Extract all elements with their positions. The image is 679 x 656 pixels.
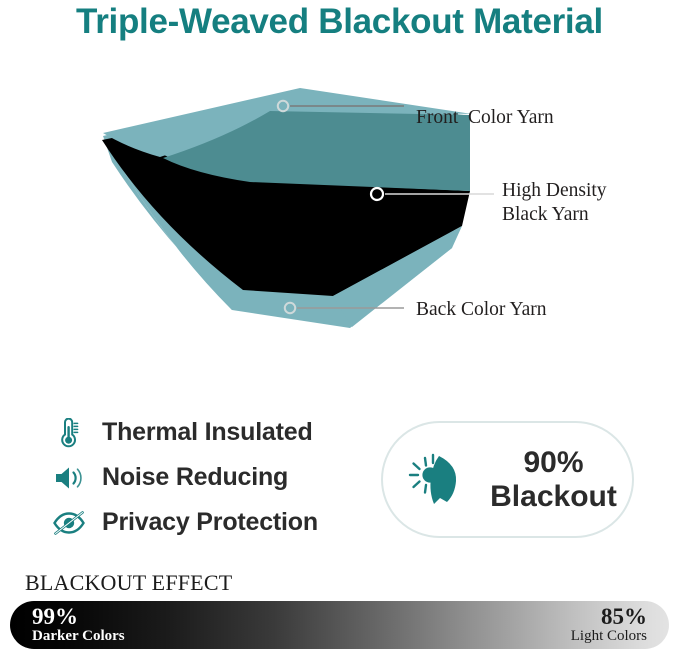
light-colors-percent: 85%	[571, 605, 647, 629]
feature-list: Thermal Insulated Noise Reducing Privacy…	[48, 410, 358, 545]
blackout-effect-left-stat: 99% Darker Colors	[32, 605, 125, 645]
blackout-percent: 90%	[523, 446, 583, 479]
blackout-effect-right-stat: 85% Light Colors	[571, 605, 647, 645]
blackout-caption: Blackout	[490, 480, 617, 513]
feature-privacy-protection: Privacy Protection	[48, 500, 358, 545]
callout-label-front-color-yarn: Front Color Yarn	[416, 106, 554, 130]
callout-label-back-color-yarn: Back Color Yarn	[416, 298, 547, 322]
blackout-badge: 90% Blackout	[381, 421, 634, 538]
feature-label-privacy-protection: Privacy Protection	[102, 508, 318, 537]
feature-label-noise-reducing: Noise Reducing	[102, 463, 288, 492]
speaker-sound-icon	[48, 464, 90, 492]
feature-noise-reducing: Noise Reducing	[48, 455, 358, 500]
light-colors-caption: Light Colors	[571, 629, 647, 645]
feature-label-thermal-insulated: Thermal Insulated	[102, 418, 313, 447]
blackout-effect-heading: BLACKOUT EFFECT	[25, 570, 232, 596]
blackout-badge-text: 90% Blackout	[481, 446, 632, 513]
page-title: Triple-Weaved Blackout Material	[0, 2, 679, 42]
darker-colors-percent: 99%	[32, 605, 125, 629]
eye-slash-icon	[48, 510, 90, 536]
blackout-effect-gradient-bar: 99% Darker Colors 85% Light Colors	[10, 601, 669, 649]
callout-label-high-density-black-yarn: High Density Black Yarn	[502, 179, 607, 227]
darker-colors-caption: Darker Colors	[32, 629, 125, 645]
feature-thermal-insulated: Thermal Insulated	[48, 410, 358, 455]
sun-behind-curtain-icon	[383, 449, 481, 511]
thermometer-icon	[48, 418, 90, 448]
